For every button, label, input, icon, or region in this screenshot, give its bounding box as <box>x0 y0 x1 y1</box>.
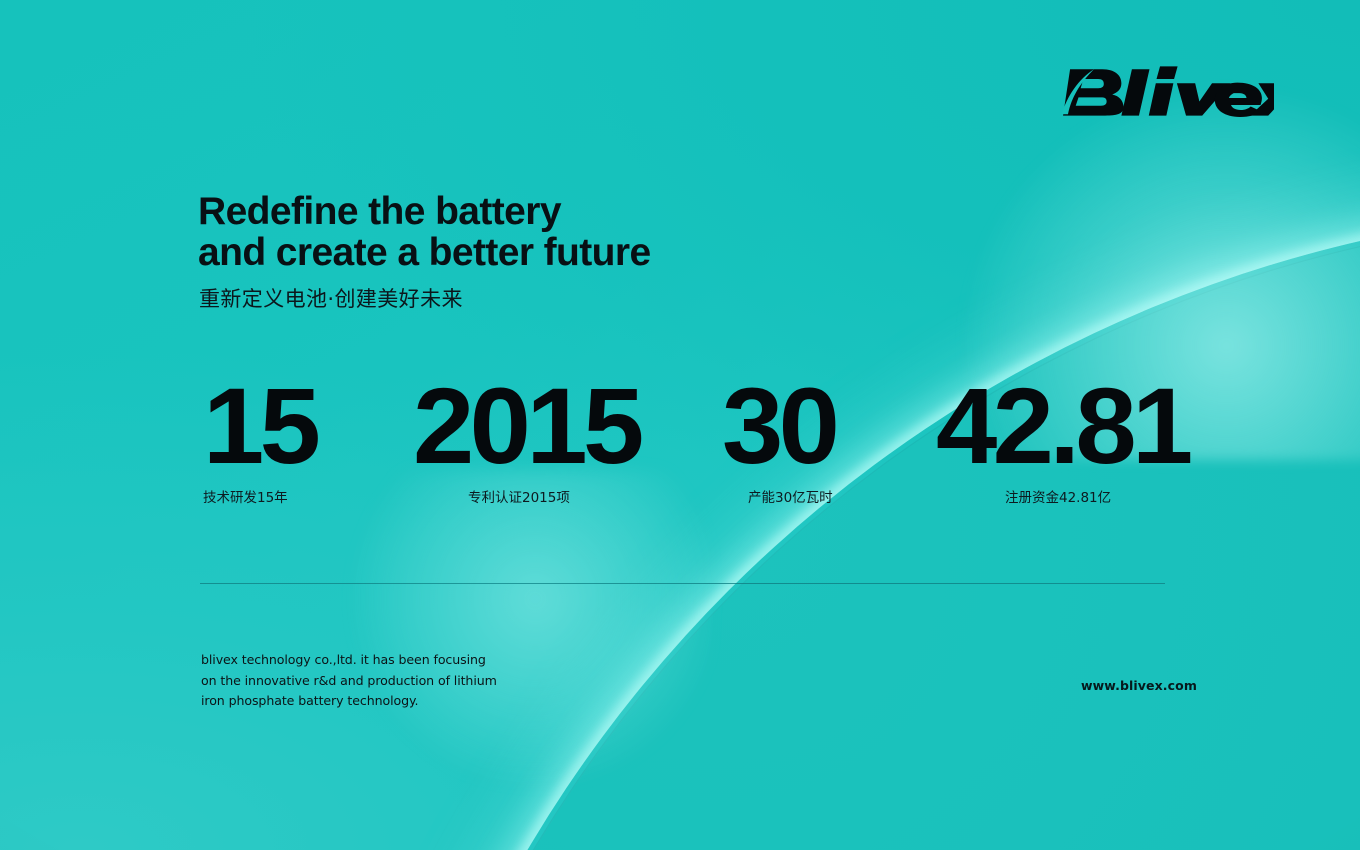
stat-item: 15 技术研发15年 <box>203 394 433 480</box>
stat-item: 42.81 注册资金42.81亿 <box>936 394 1182 480</box>
stat-value: 15 <box>203 372 316 480</box>
company-description: blivex technology co.,ltd. it has been f… <box>201 650 501 712</box>
stat-label: 专利认证2015项 <box>468 486 570 506</box>
stat-value: 30 <box>722 372 835 480</box>
slide-canvas: Redefine the battery and create a better… <box>0 0 1360 850</box>
horizontal-divider <box>200 583 1165 584</box>
stat-value: 42.81 <box>936 372 1189 480</box>
stat-label: 产能30亿瓦时 <box>748 486 833 506</box>
stat-value: 2015 <box>413 372 640 480</box>
statistics-row: 15 技术研发15年 2015 专利认证2015项 30 产能30亿瓦时 42.… <box>0 0 1360 850</box>
stat-label: 技术研发15年 <box>203 486 288 506</box>
stat-item: 30 产能30亿瓦时 <box>722 394 858 480</box>
website-url[interactable]: www.blivex.com <box>1081 678 1197 693</box>
stat-item: 2015 专利认证2015项 <box>413 394 635 480</box>
stat-label: 注册资金42.81亿 <box>1005 486 1111 506</box>
